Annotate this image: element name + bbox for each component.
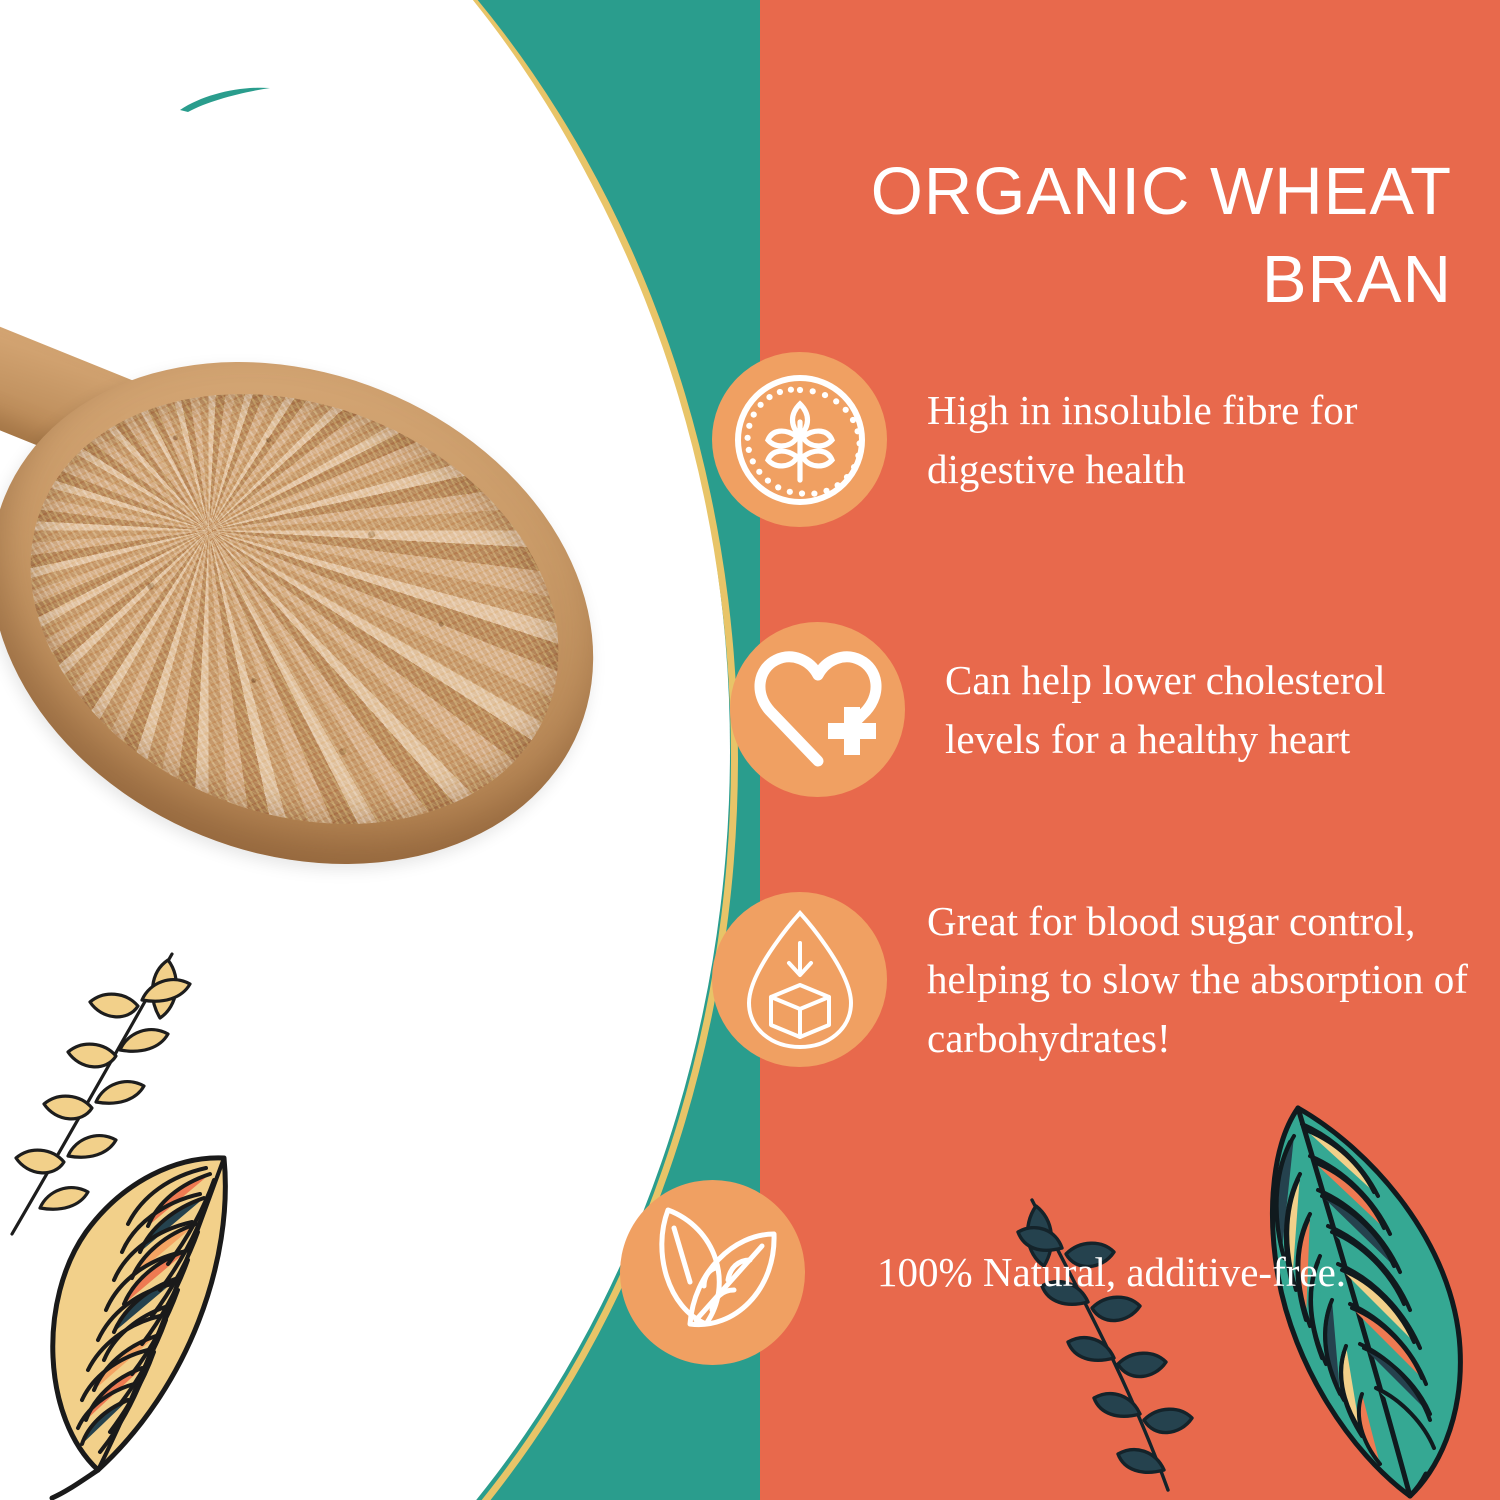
logo-leaf-top-icon [158, 74, 298, 118]
decorative-striped-leaf-warm-icon [28, 1140, 258, 1500]
logo-wordmark: Sussex Wholefoods [40, 115, 415, 161]
brand-logo: NATURAL Sussex Wholefoods PREMIUM [40, 22, 415, 237]
product-image [0, 255, 720, 935]
benefit-text: Great for blood sugar control, helping t… [927, 892, 1480, 1067]
logo-arc-bottom: PREMIUM [40, 194, 415, 254]
benefit-item-blood-sugar: Great for blood sugar control, helping t… [712, 892, 1480, 1067]
two-leaves-icon [620, 1180, 805, 1365]
benefit-text: High in insoluble fibre for digestive he… [927, 381, 1480, 497]
benefit-item-fibre: High in insoluble fibre for digestive he… [712, 352, 1480, 527]
benefit-text: Can help lower cholesterol levels for a … [945, 651, 1480, 767]
page-title-line1: ORGANIC WHEAT [812, 148, 1452, 236]
logo-underline [68, 159, 388, 163]
page-title: ORGANIC WHEAT BRAN [812, 148, 1452, 325]
benefit-item-natural: 100% Natural, additive-free. [620, 1180, 1346, 1365]
page-title-line2: BRAN [812, 236, 1452, 324]
heart-plus-icon [730, 622, 905, 797]
product-infographic: NATURAL Sussex Wholefoods PREMIUM [0, 0, 1500, 1500]
benefit-item-cholesterol: Can help lower cholesterol levels for a … [730, 622, 1480, 797]
benefit-text: 100% Natural, additive-free. [877, 1243, 1346, 1301]
wheat-sprig-icon [712, 352, 887, 527]
droplet-sugar-cube-icon [712, 892, 887, 1067]
